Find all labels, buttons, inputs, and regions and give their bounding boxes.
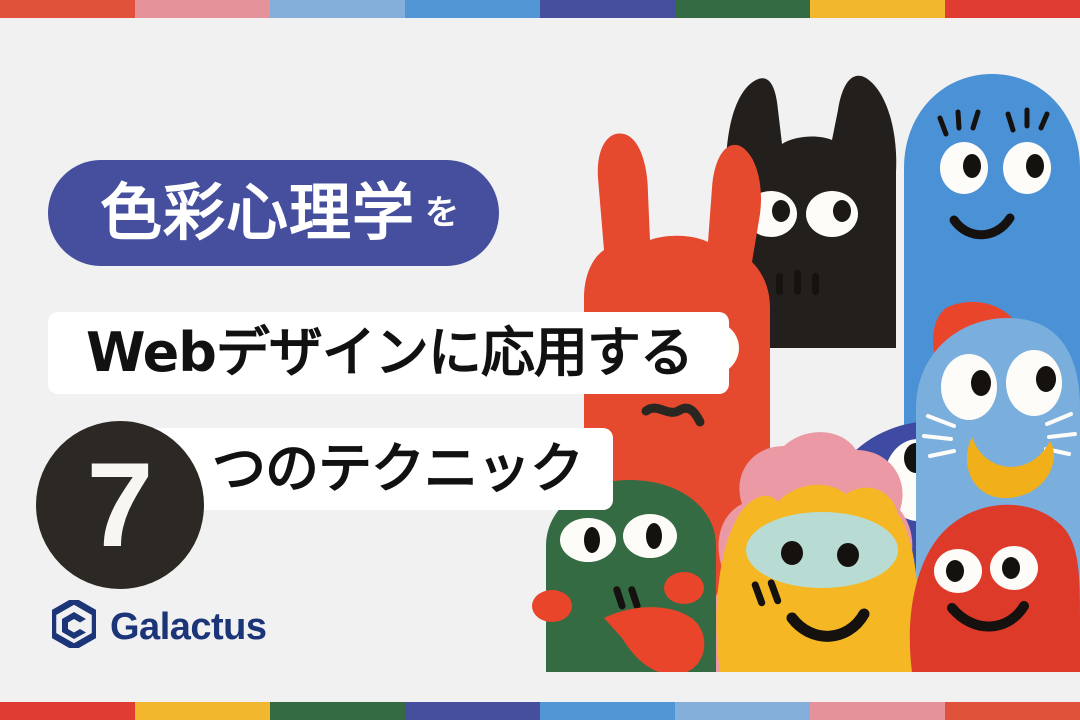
stripe-segment-red [0,0,135,18]
stripe-segment-red [0,702,135,720]
stripe-segment-blue [540,702,675,720]
bottom-color-stripe [0,702,1080,720]
stripe-segment-yellow [135,702,270,720]
stripe-segment-green [270,702,405,720]
galactus-wordmark: Galactus [110,608,267,646]
headline-line2-text: Webデザインに応用する [86,326,693,380]
stripe-segment-blue [405,0,540,18]
stripe-segment-red-2 [945,0,1080,18]
galactus-hexagon-g-icon [52,600,96,653]
stripe-segment-light-blue [675,702,810,720]
stripe-segment-pink [810,702,945,720]
headline-line2-box: Webデザインに応用する [48,312,729,394]
stripe-segment-green [675,0,810,18]
character-yellow-masked-monster [717,485,920,672]
headline-line1-particle: を [425,196,459,230]
stripe-segment-pink [135,0,270,18]
top-color-stripe [0,0,1080,18]
stripe-segment-yellow [810,0,945,18]
headline-line3-text: つのテクニック [212,442,583,496]
galactus-logo[interactable]: Galactus [52,600,267,653]
poster-canvas: 色彩心理学 を Webデザインに応用する つのテクニック 7 Galactus [0,0,1080,720]
headline-line1-main: 色彩心理学 [100,182,415,244]
stripe-segment-red-2 [945,702,1080,720]
headline-number-badge: 7 [36,421,204,589]
stripe-segment-indigo [540,0,675,18]
headline-line1-pill: 色彩心理学 を [48,160,499,266]
stripe-segment-light-blue [270,0,405,18]
stripe-segment-indigo [405,702,540,720]
headline-number-text: 7 [87,445,154,565]
